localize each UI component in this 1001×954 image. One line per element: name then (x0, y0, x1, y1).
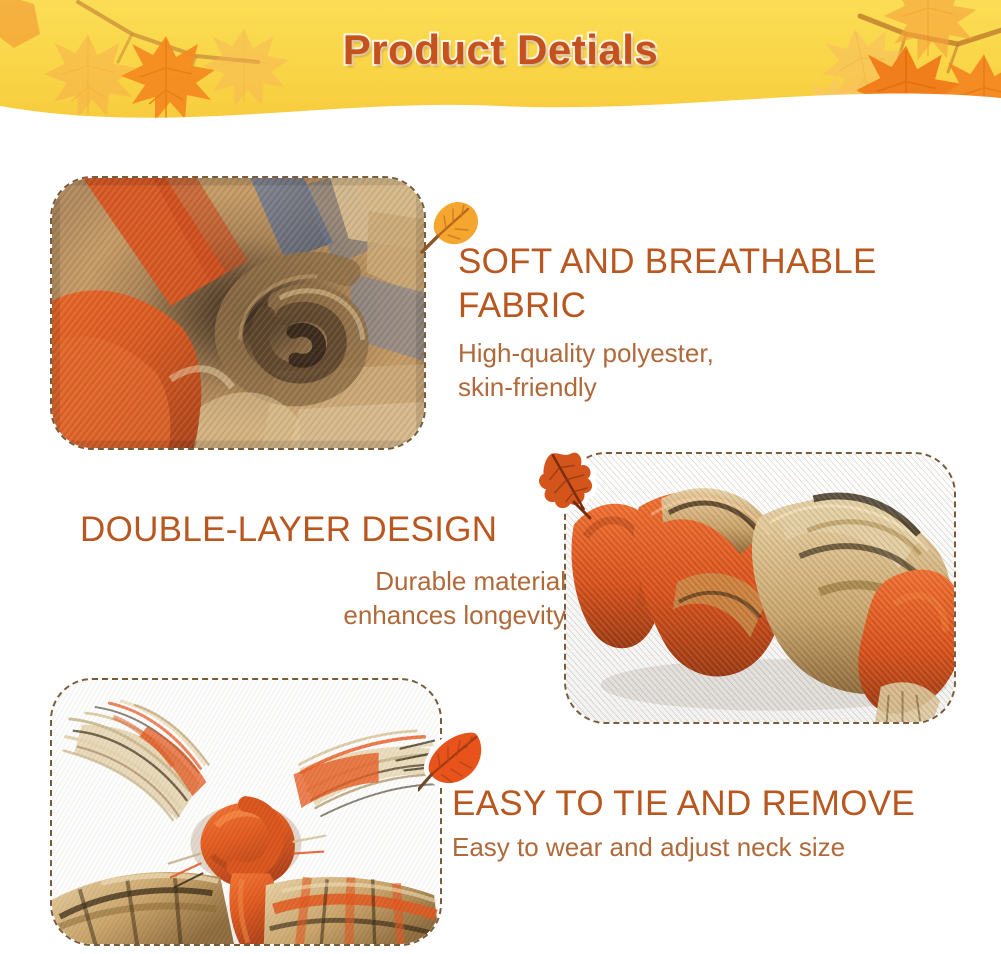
feature-body-easy-tie: Easy to wear and adjust neck size (452, 830, 992, 864)
feature-image-card-easy-tie (50, 678, 442, 946)
product-details-infographic: Product Detials (0, 0, 1001, 954)
fabric-photo (52, 178, 424, 448)
page-title: Product Detials (0, 26, 1001, 74)
feature-body-line: Easy to wear and adjust neck size (452, 830, 992, 864)
feature-body-fabric: High-quality polyester, skin-friendly (458, 336, 978, 405)
feature-body-line: skin-friendly (458, 370, 978, 404)
feature-body-double-layer: Durable material enhances longevity (80, 564, 566, 633)
feature-heading-fabric: SOFT AND BREATHABLE FABRIC (458, 240, 978, 328)
feature-text-double-layer: DOUBLE-LAYER DESIGN Durable material enh… (80, 508, 566, 632)
feature-heading-easy-tie: EASY TO TIE AND REMOVE (452, 782, 992, 826)
double-layer-photo (566, 454, 954, 722)
feature-image-card-double-layer (564, 452, 956, 724)
feature-text-easy-tie: EASY TO TIE AND REMOVE Easy to wear and … (452, 782, 992, 864)
feature-text-fabric: SOFT AND BREATHABLE FABRIC High-quality … (458, 240, 978, 404)
easy-tie-photo (52, 680, 440, 944)
feature-body-line: enhances longevity (80, 598, 566, 632)
feature-image-card-fabric (50, 176, 426, 450)
feature-body-line: High-quality polyester, (458, 336, 978, 370)
header-banner: Product Detials (0, 0, 1001, 136)
feature-body-line: Durable material (80, 564, 566, 598)
feature-heading-double-layer: DOUBLE-LAYER DESIGN (80, 508, 566, 552)
